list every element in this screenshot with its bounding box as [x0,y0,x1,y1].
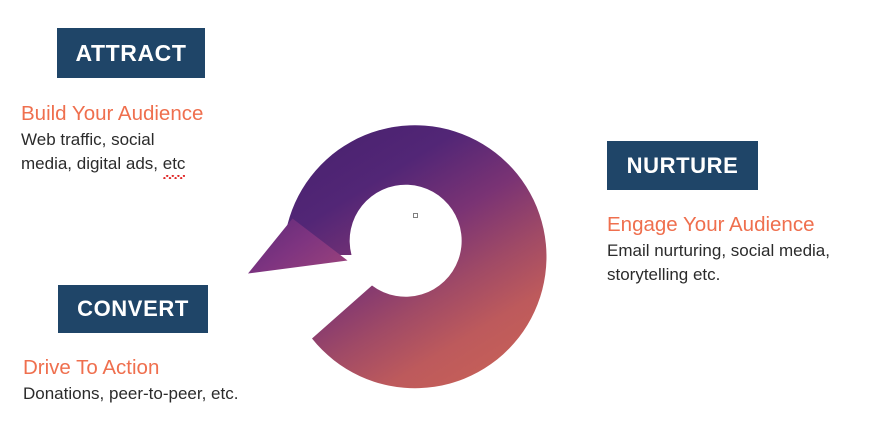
body-line: storytelling etc. [607,263,830,287]
center-marker [413,213,418,218]
body-nurture: Email nurturing, social media, storytell… [607,239,830,287]
stage-nurture: NURTURE Engage Your Audience Email nurtu… [607,141,758,190]
body-attract: Web traffic, social media, digital ads, … [21,128,185,176]
stage-attract: ATTRACT Build Your Audience Web traffic,… [57,28,205,78]
heading-convert: Drive To Action [23,355,159,381]
heading-nurture: Engage Your Audience [607,212,814,238]
body-convert: Donations, peer-to-peer, etc. [23,382,238,406]
badge-attract[interactable]: ATTRACT [57,28,205,78]
body-line: media, digital ads, etc [21,152,185,176]
badge-convert[interactable]: CONVERT [58,285,208,333]
badge-nurture[interactable]: NURTURE [607,141,758,190]
body-line: Email nurturing, social media, [607,239,830,263]
cycle-ring-graphic [236,42,596,397]
heading-attract: Build Your Audience [21,101,203,127]
body-line: Donations, peer-to-peer, etc. [23,382,238,406]
body-line-text: media, digital ads, [21,154,163,173]
misspelled-word-etc: etc [163,152,186,176]
body-line: Web traffic, social [21,128,185,152]
stage-convert: CONVERT Drive To Action Donations, peer-… [58,285,208,333]
diagram-canvas: ATTRACT Build Your Audience Web traffic,… [0,0,896,435]
